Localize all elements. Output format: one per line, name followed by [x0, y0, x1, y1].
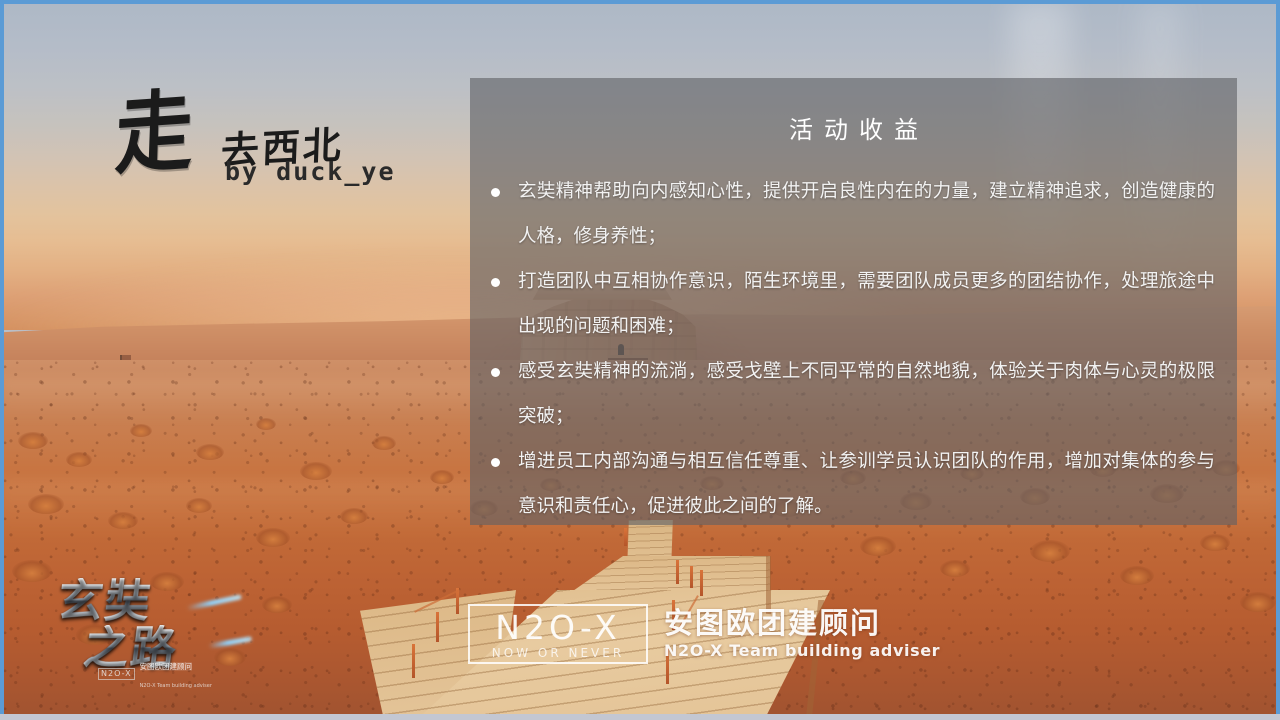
desert-shrub: [1240, 592, 1276, 612]
rope-post: [412, 644, 415, 678]
desert-shrub: [1200, 534, 1230, 551]
benefit-list: 玄奘精神帮助向内感知心性，提供开启良性内在的力量，建立精神追求，创造健康的人格，…: [470, 169, 1237, 529]
watermark-tagline: NOW OR NEVER: [470, 646, 646, 660]
xuanzang-logo-footer-mark: N2O-X: [98, 668, 135, 680]
brush-logo-main-char: 走: [114, 87, 195, 180]
desert-shrub: [1120, 566, 1154, 585]
brush-logo: 走 去西北 by duck_ye: [115, 95, 193, 173]
list-item: 感受玄奘精神的流淌，感受戈壁上不同平常的自然地貌，体验关于肉体与心灵的极限突破；: [488, 349, 1215, 439]
watermark-company: 安图欧团建顾问 N2O-X Team building adviser: [664, 608, 940, 660]
rope-post: [700, 570, 703, 596]
desert-shrub: [340, 508, 368, 524]
rope-post: [676, 560, 679, 584]
brush-logo-byline: by duck_ye: [225, 157, 396, 186]
desert-shrub: [12, 560, 52, 582]
desert-shrub: [186, 498, 212, 513]
desert-shrub: [372, 436, 396, 450]
desert-shrub: [262, 596, 292, 613]
desert-shrub: [256, 528, 290, 547]
panel-title: 活动收益: [470, 110, 1237, 145]
rope-post: [690, 566, 693, 588]
xuanzang-road-logo: 玄奘 之路 N2O-X 安图欧团建顾问 N2O-X Team building …: [58, 578, 258, 670]
desert-shrub: [130, 424, 152, 437]
desert-shrub: [28, 494, 64, 514]
desert-shrub: [196, 444, 224, 460]
desert-shrub: [860, 536, 896, 556]
content-panel: 活动收益 玄奘精神帮助向内感知心性，提供开启良性内在的力量，建立精神追求，创造健…: [470, 78, 1237, 525]
logo-glare-streak: [186, 594, 242, 611]
desert-shrub: [256, 418, 276, 430]
xuanzang-logo-footer-cn: 安图欧团建顾问: [140, 662, 193, 671]
desert-shrub: [1030, 540, 1070, 562]
xuanzang-logo-footer-en: N2O-X Team building adviser: [140, 683, 212, 689]
desert-shrub: [108, 512, 138, 529]
xuanzang-logo-footer: N2O-X 安图欧团建顾问 N2O-X Team building advise…: [98, 656, 212, 692]
desert-shrub: [940, 560, 970, 577]
desert-shrub: [66, 452, 92, 467]
watermark-company-cn: 安图欧团建顾问: [664, 608, 940, 638]
desert-shrub: [430, 470, 454, 484]
rope-post: [436, 612, 439, 642]
list-item: 打造团队中互相协作意识，陌生环境里，需要团队成员更多的团结协作，处理旅途中出现的…: [488, 259, 1215, 349]
list-item: 增进员工内部沟通与相互信任尊重、让参训学员认识团队的作用，增加对集体的参与意识和…: [488, 439, 1215, 529]
n2ox-watermark: N2O-X NOW OR NEVER 安图欧团建顾问 N2O-X Team bu…: [468, 604, 940, 664]
list-item: 玄奘精神帮助向内感知心性，提供开启良性内在的力量，建立精神追求，创造健康的人格，…: [488, 169, 1215, 259]
logo-glare-streak-secondary: [208, 636, 252, 649]
desert-shrub: [18, 432, 48, 449]
desert-shrub: [300, 462, 332, 480]
watermark-company-en: N2O-X Team building adviser: [664, 641, 940, 660]
watermark-logo-box: N2O-X NOW OR NEVER: [468, 604, 648, 664]
rope-post: [624, 528, 627, 546]
xuanzang-logo-line1: 玄奘: [55, 578, 155, 623]
presentation-slide: 走 去西北 by duck_ye 活动收益 玄奘精神帮助向内感知心性，提供开启良…: [0, 0, 1280, 720]
